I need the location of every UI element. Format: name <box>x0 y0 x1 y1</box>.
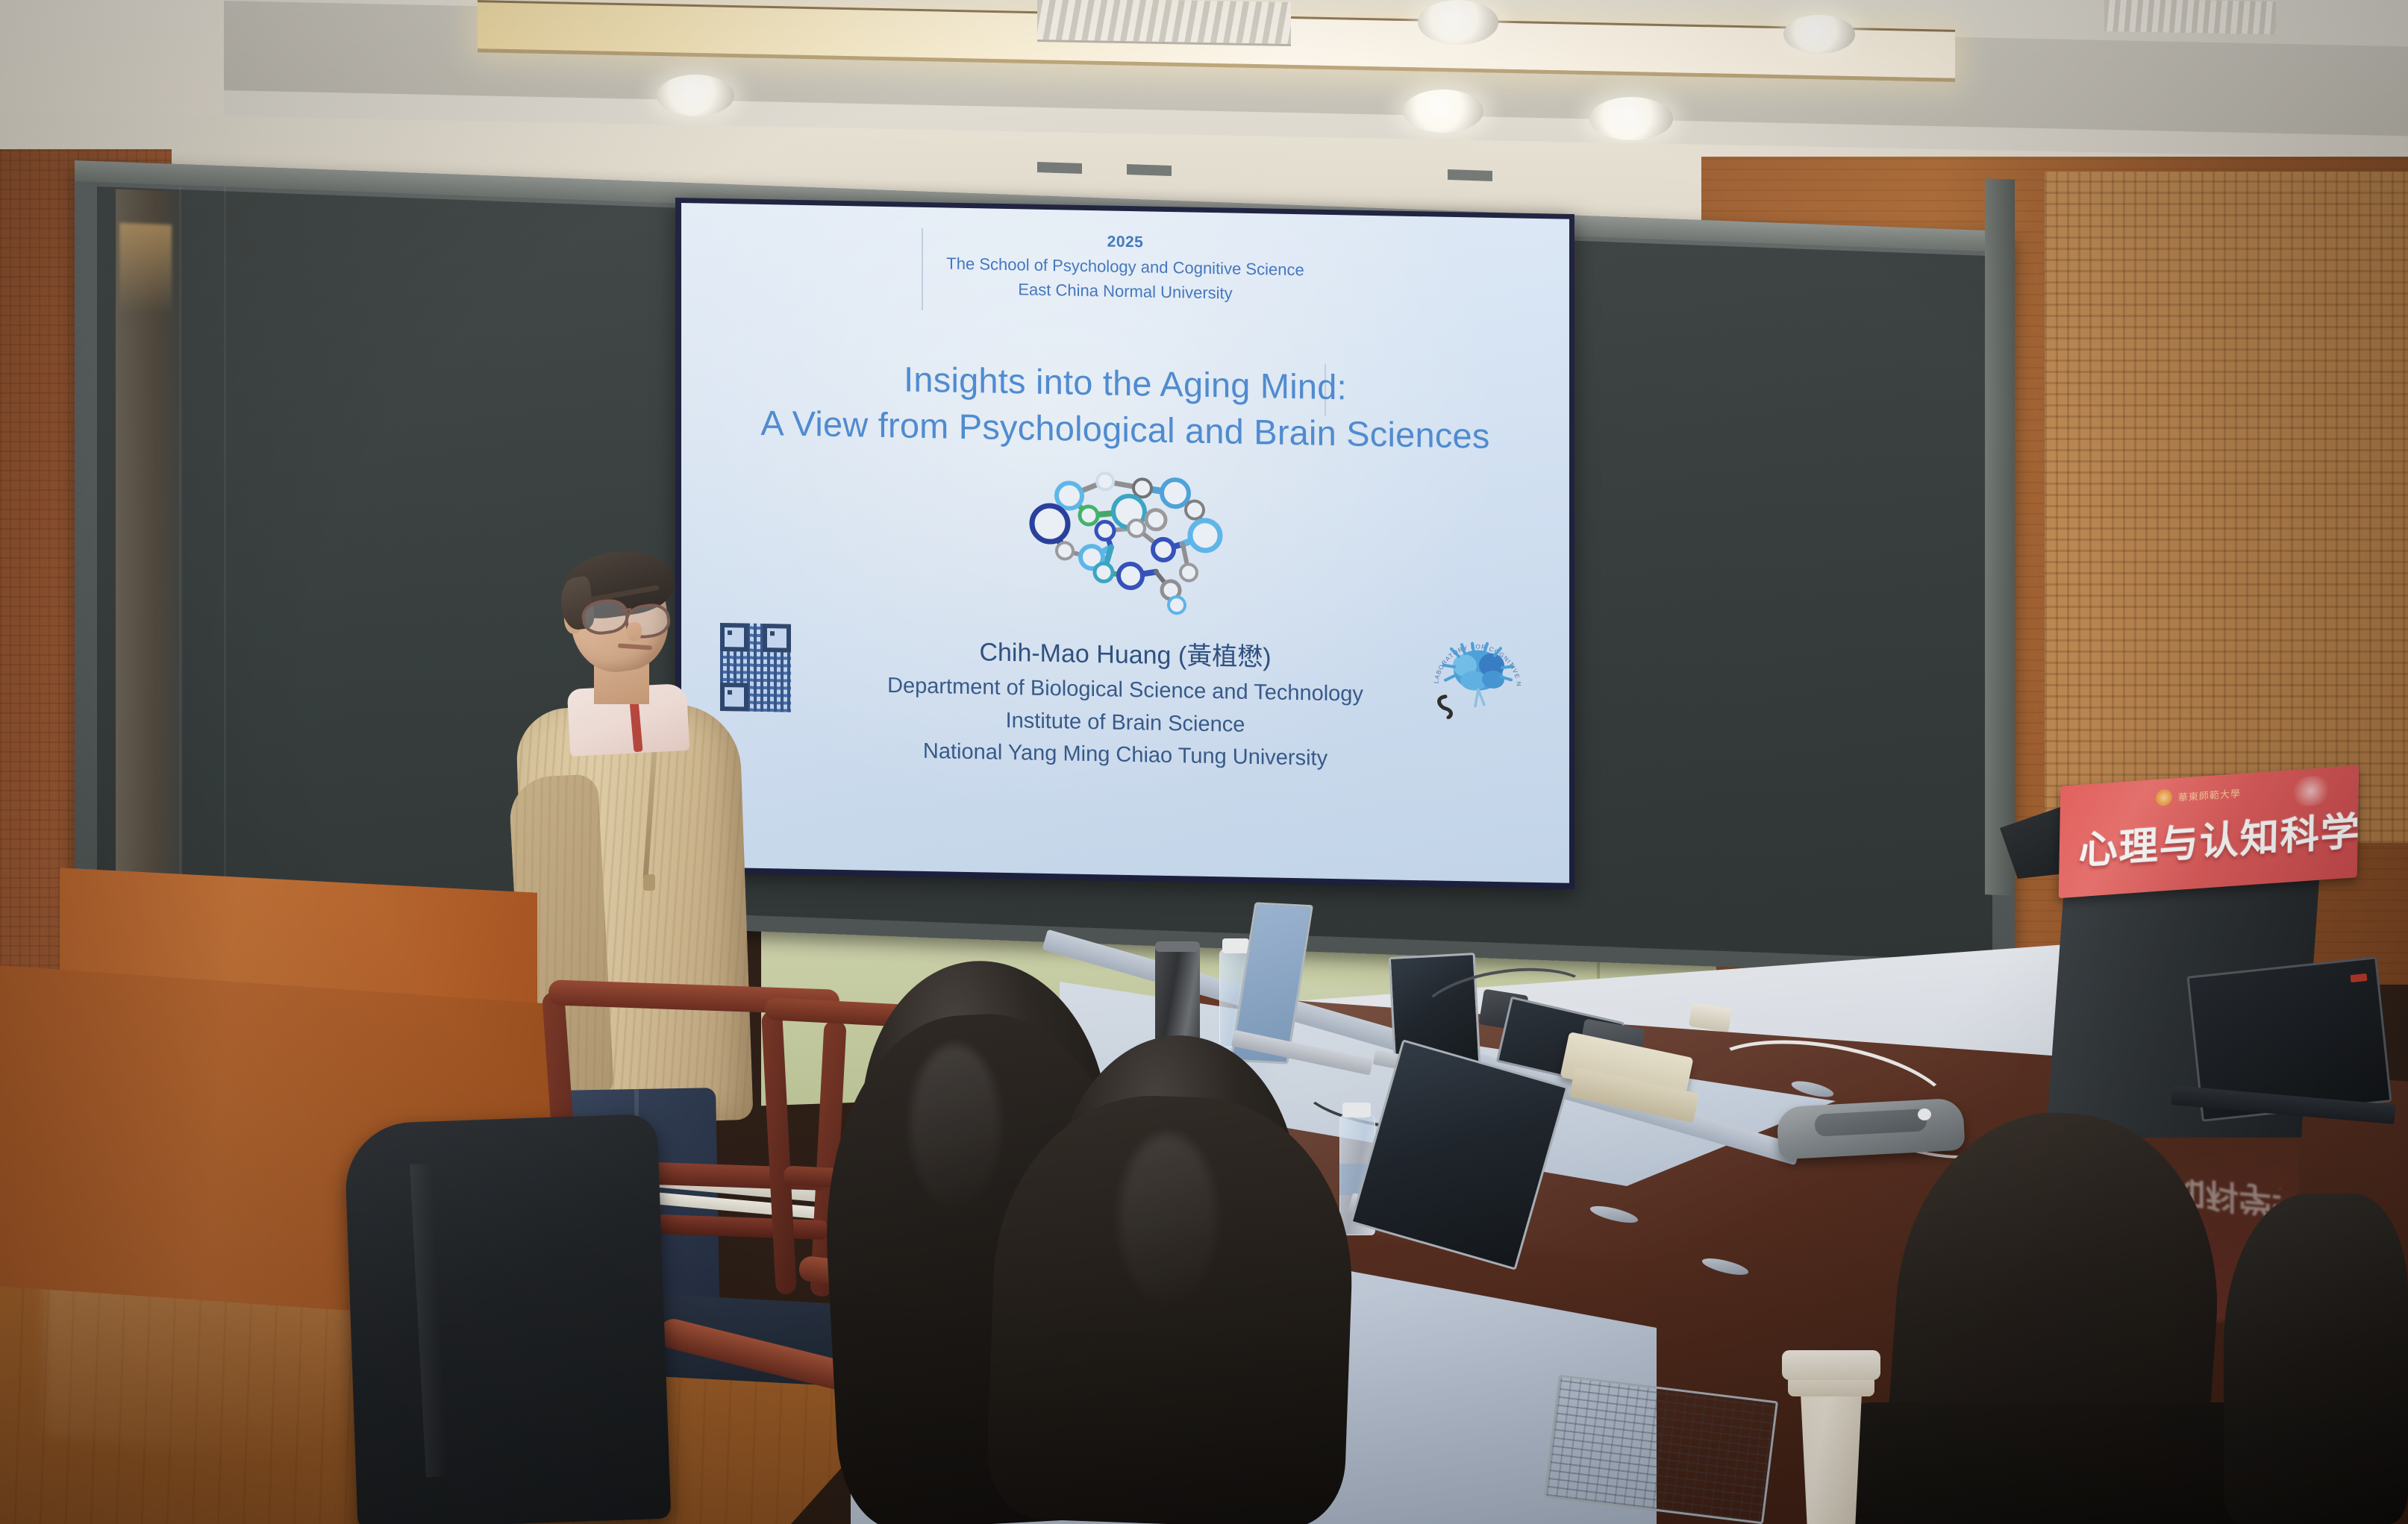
screen-mount-clip <box>1127 164 1172 176</box>
screen-mount-clip <box>1037 162 1082 174</box>
brain-network-icon <box>1017 451 1233 619</box>
laptop-keyboard <box>1544 1375 1778 1524</box>
slide-title-line-2: A View from Psychological and Brain Scie… <box>681 398 1569 461</box>
coat-draped-on-chair <box>344 1114 672 1524</box>
slide-title: Insights into the Aging Mind: A View fro… <box>681 352 1569 461</box>
podium-department-sign: 華東師範大學 心理与认知科学学院 <box>2059 765 2359 898</box>
seminar-room-photo: 2025 The School of Psychology and Cognit… <box>0 0 2408 1524</box>
perforated-acoustic-panel <box>2045 172 2408 843</box>
university-logo: 華東師範大學 <box>2156 784 2241 806</box>
bottle-cap <box>1342 1103 1371 1117</box>
audience-head <box>2224 1194 2408 1524</box>
chalkboard-seam <box>179 186 181 888</box>
screen-mount-clip <box>1448 169 1492 181</box>
thermos-lid <box>1155 941 1200 952</box>
ceiling-downlight <box>1783 15 1855 54</box>
slide-title-line-1: Insights into the Aging Mind: <box>904 359 1347 407</box>
university-wordmark: 華東師範大學 <box>2178 785 2241 803</box>
cognitive-neuroscience-lab-logo: LABORATORY FOR COGNITIVE NEUROSCIENCE <box>1429 623 1526 720</box>
slide-speaker-name: Chih-Mao Huang (黃植懋) <box>979 638 1271 671</box>
bottle-cap <box>1222 938 1249 953</box>
chalkboard-reflection <box>119 223 172 315</box>
hair-highlight <box>1119 1134 1216 1305</box>
presenter-nose <box>627 622 642 642</box>
speakerphone-indicator <box>1918 1108 1931 1120</box>
slide-header: 2025 The School of Psychology and Cognit… <box>681 222 1569 311</box>
coffee-cup-lid <box>1782 1350 1880 1380</box>
ceiling-downlight <box>1418 0 1498 45</box>
university-seal-icon <box>2156 788 2172 806</box>
podium-sign-text: 心理与认知科学学院 <box>2078 800 2348 875</box>
chalkboard-seam <box>224 186 226 888</box>
ceiling-downlight <box>1589 97 1673 140</box>
hair-highlight <box>910 1044 1000 1208</box>
ceiling-downlight <box>1403 90 1483 133</box>
chalkboard-right-frame <box>1985 178 2015 895</box>
ceiling-air-vent <box>1037 0 1291 46</box>
ceiling-downlight <box>657 75 734 116</box>
presentation-slide: 2025 The School of Psychology and Cognit… <box>681 203 1569 883</box>
zipper-pull <box>643 874 655 891</box>
ceiling-air-vent <box>2104 0 2276 34</box>
